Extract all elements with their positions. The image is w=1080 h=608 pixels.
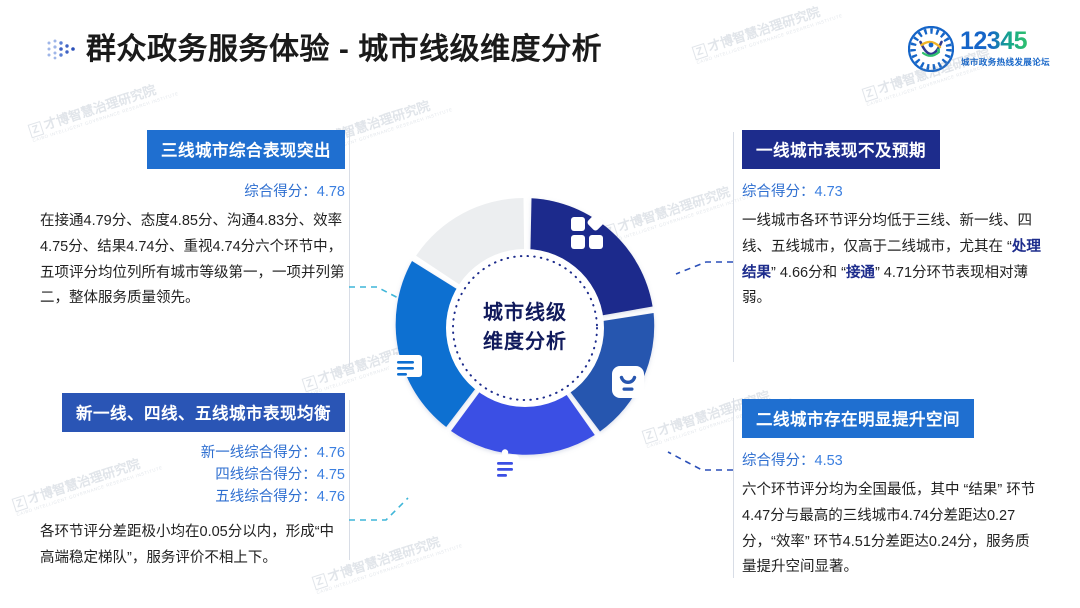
divider-left-bottom bbox=[349, 400, 350, 560]
score-label: 综合得分： bbox=[742, 184, 815, 200]
score-label: 四线综合得分： bbox=[215, 467, 317, 483]
card-title-bottom-left: 新一线、四线、五线城市表现均衡 bbox=[62, 393, 345, 432]
score-label: 综合得分： bbox=[244, 184, 317, 200]
card-top-left: 三线城市综合表现突出 综合得分：4.78 在接通4.79分、态度4.85分、沟通… bbox=[40, 130, 345, 312]
card-title-top-right: 一线城市表现不及预期 bbox=[742, 130, 940, 169]
body-segment: 一线城市各环节评分均低于三线、新一线、四线、五线城市，仅高于二线城市，尤其在 “ bbox=[742, 213, 1032, 255]
logo-number: 12345 bbox=[960, 27, 1027, 56]
score-row: 四线综合得分：4.75 bbox=[40, 465, 345, 487]
score-row: 新一线综合得分：4.76 bbox=[40, 443, 345, 465]
card-title-bottom-right: 二线城市存在明显提升空间 bbox=[742, 399, 974, 438]
donut-center-label: 城市线级 维度分析 bbox=[360, 163, 690, 493]
card-score-top-left: 综合得分：4.78 bbox=[40, 180, 345, 201]
card-top-right: 一线城市表现不及预期 综合得分：4.73 一线城市各环节评分均低于三线、新一线、… bbox=[742, 130, 1042, 312]
body-segment: ” 4.66分和 “ bbox=[771, 265, 846, 281]
body-emphasis: 接通 bbox=[846, 265, 875, 281]
score-value: 4.76 bbox=[317, 489, 345, 505]
card-score-bottom-right: 综合得分：4.53 bbox=[742, 449, 1042, 470]
score-label: 五线综合得分： bbox=[215, 489, 317, 505]
score-value: 4.76 bbox=[317, 445, 345, 461]
card-body-top-right: 一线城市各环节评分均低于三线、新一线、四线、五线城市，仅高于二线城市，尤其在 “… bbox=[742, 209, 1042, 312]
center-line-2: 维度分析 bbox=[483, 328, 567, 357]
card-body-bottom-right: 六个环节评分均为全国最低，其中 “结果” 环节4.47分与最高的三线城市4.74… bbox=[742, 478, 1042, 581]
score-label: 新一线综合得分： bbox=[201, 445, 317, 461]
score-value: 4.78 bbox=[317, 184, 345, 200]
slide-header: 群众政务服务体验 - 城市线级维度分析 12345 城市政务热线发展论坛 bbox=[0, 0, 1080, 96]
card-bottom-left: 新一线、四线、五线城市表现均衡 新一线综合得分：4.76 四线综合得分：4.75… bbox=[40, 393, 345, 572]
card-body-top-left: 在接通4.79分、态度4.85分、沟通4.83分、效率4.75分、结果4.74分… bbox=[40, 209, 345, 312]
logo-subtitle: 城市政务热线发展论坛 bbox=[961, 56, 1050, 68]
score-label: 综合得分： bbox=[742, 453, 815, 469]
divider-left-top bbox=[349, 128, 350, 366]
page-title: 群众政务服务体验 - 城市线级维度分析 bbox=[86, 24, 602, 68]
divider-right-top bbox=[733, 132, 734, 362]
score-row: 五线综合得分：4.76 bbox=[40, 487, 345, 509]
card-bottom-right: 二线城市存在明显提升空间 综合得分：4.53 六个环节评分均为全国最低，其中 “… bbox=[742, 399, 1042, 581]
logo-emblem-icon bbox=[908, 26, 954, 72]
card-body-bottom-left: 各环节评分差距极小均在0.05分以内，形成“中高端稳定梯队”，服务评价不相上下。 bbox=[40, 520, 345, 572]
score-value: 4.75 bbox=[317, 467, 345, 483]
card-title-top-left: 三线城市综合表现突出 bbox=[147, 130, 345, 169]
dotted-arrow-icon bbox=[46, 36, 80, 62]
card-scores-bottom-left: 新一线综合得分：4.76 四线综合得分：4.75 五线综合得分：4.76 bbox=[40, 443, 345, 508]
slide-root: 群众政务服务体验 - 城市线级维度分析 12345 城市政务热线发展论坛 Z才博… bbox=[0, 0, 1080, 608]
card-score-top-right: 综合得分：4.73 bbox=[742, 180, 1042, 201]
score-value: 4.53 bbox=[815, 453, 843, 469]
divider-right-bottom bbox=[733, 398, 734, 578]
center-line-1: 城市线级 bbox=[483, 299, 567, 328]
score-value: 4.73 bbox=[815, 184, 843, 200]
forum-logo: 12345 城市政务热线发展论坛 bbox=[908, 26, 1058, 72]
donut-chart: 城市线级 维度分析 bbox=[360, 163, 690, 493]
